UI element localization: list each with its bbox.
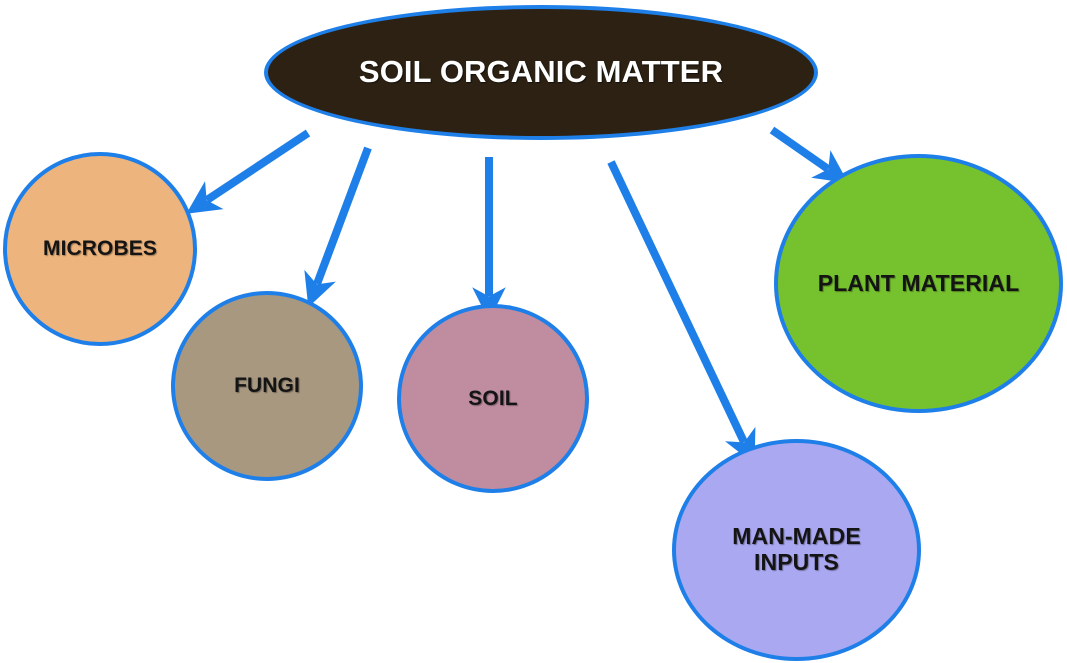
node-microbes-label: MICROBES [43, 237, 157, 261]
node-man-made-inputs[interactable]: MAN-MADE INPUTS [672, 439, 921, 661]
node-fungi-label: FUNGI [234, 374, 300, 398]
diagram-canvas: SOIL ORGANIC MATTER MICROBES FUNGI SOIL … [0, 0, 1067, 663]
node-plant-material[interactable]: PLANT MATERIAL [774, 154, 1063, 413]
arrow-to-fungi [317, 148, 368, 284]
node-soil[interactable]: SOIL [397, 304, 589, 493]
arrow-to-man-made-inputs [611, 162, 744, 442]
node-soil-organic-matter[interactable]: SOIL ORGANIC MATTER [264, 5, 818, 140]
node-man-made-inputs-label: MAN-MADE INPUTS [732, 524, 861, 576]
node-fungi[interactable]: FUNGI [171, 291, 363, 481]
arrow-to-microbes [207, 133, 308, 200]
node-soil-label: SOIL [468, 387, 517, 411]
node-soil-organic-matter-label: SOIL ORGANIC MATTER [359, 55, 723, 90]
node-plant-material-label: PLANT MATERIAL [818, 271, 1020, 297]
node-microbes[interactable]: MICROBES [3, 152, 197, 346]
arrow-to-plant-material [772, 130, 828, 169]
